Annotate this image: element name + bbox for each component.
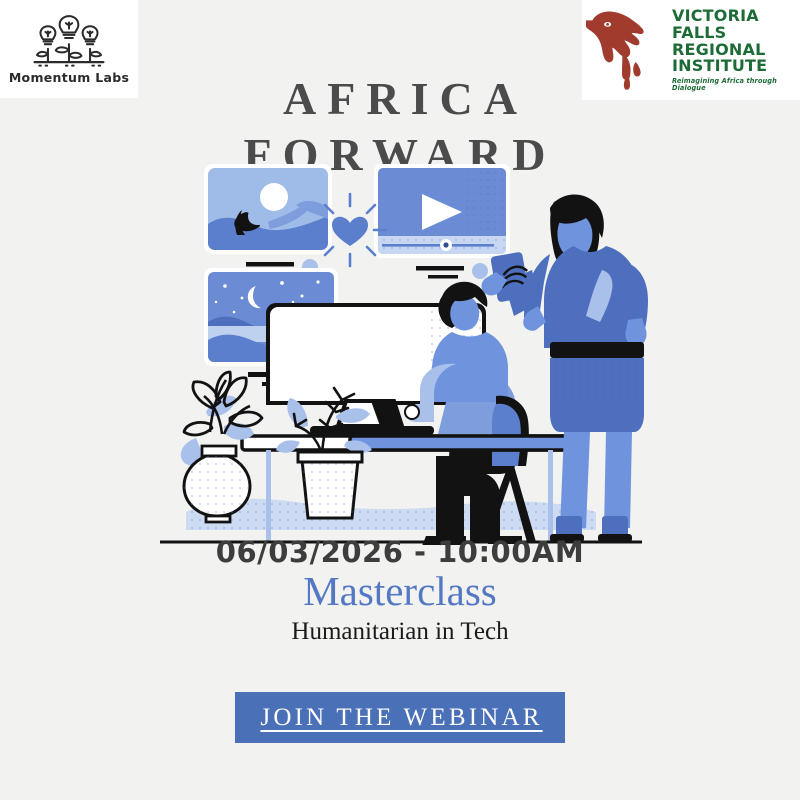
card-b-caption — [416, 263, 488, 279]
event-topic: Humanitarian in Tech — [0, 618, 800, 646]
event-datetime: 06/03/2026 - 10:00AM — [0, 535, 800, 569]
join-webinar-label: JOIN THE WEBINAR — [257, 704, 542, 732]
heart-burst-icon — [314, 194, 386, 266]
join-webinar-button[interactable]: JOIN THE WEBINAR — [235, 692, 565, 743]
title-line-1: AFRICA — [283, 73, 528, 124]
lightbulb-plants-icon — [30, 13, 108, 69]
video-play-card — [374, 164, 510, 258]
remote-work-media-illustration — [150, 150, 650, 545]
sunset-photo-card — [204, 164, 332, 254]
event-format: Masterclass — [0, 567, 800, 615]
vfri-line-1: VICTORIA FALLS — [672, 8, 800, 41]
flyer-canvas: Momentum Labs VICTORIA FALLS REGIONAL IN… — [0, 0, 800, 800]
